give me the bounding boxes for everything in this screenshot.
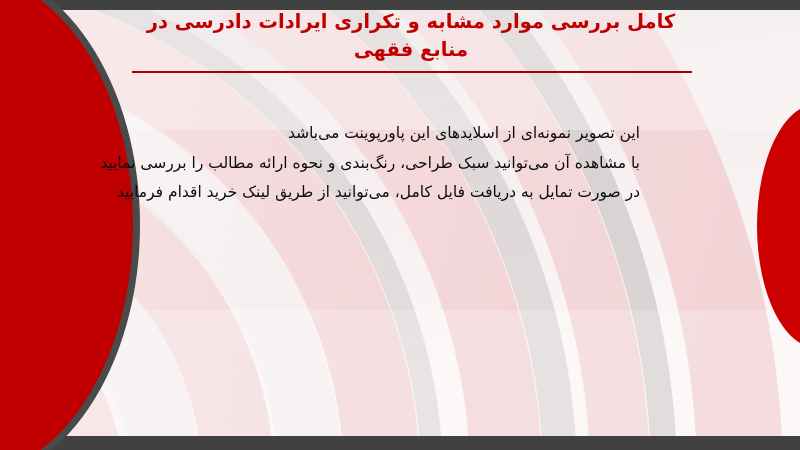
title-divider-rule (132, 71, 692, 73)
frame-band-bottom (0, 436, 800, 450)
body-line-2: با مشاهده آن می‌توانید سبک طراحی، رنگ‌بن… (140, 152, 640, 176)
slide-title: کامل بررسی موارد مشابه و تکراری ایرادات … (130, 8, 692, 63)
body-line-1: این تصویر نمونه‌ای از اسلایدهای این پاور… (140, 122, 640, 146)
slide-title-block: کامل بررسی موارد مشابه و تکراری ایرادات … (130, 8, 692, 73)
slide-body-block: این تصویر نمونه‌ای از اسلایدهای این پاور… (140, 122, 640, 205)
slide-canvas: کامل بررسی موارد مشابه و تکراری ایرادات … (0, 0, 800, 450)
body-line-3: در صورت تمایل به دریافت فایل کامل، می‌تو… (140, 181, 640, 205)
